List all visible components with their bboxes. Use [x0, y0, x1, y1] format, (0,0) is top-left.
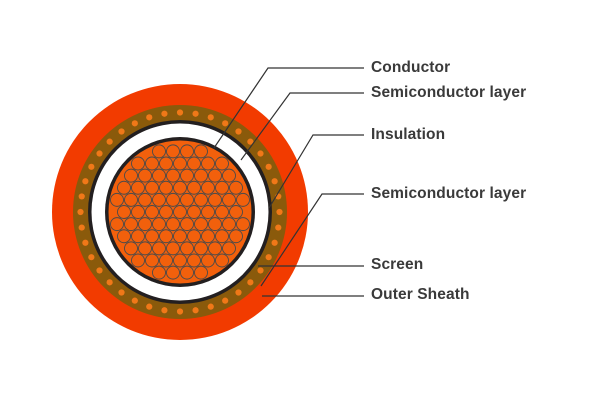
cable-cross-section-diagram: Conductor Semiconductor layer Insulation…: [0, 0, 610, 410]
screen-dot: [208, 304, 214, 310]
conductor-strand: [153, 242, 166, 255]
conductor-strand: [167, 218, 180, 231]
conductor-strand: [174, 254, 187, 267]
conductor-strand: [167, 193, 180, 206]
conductor-strand: [195, 218, 208, 231]
conductor-strand: [160, 230, 173, 243]
conductor-strand: [160, 157, 173, 170]
conductor-strand: [139, 242, 152, 255]
screen-dot: [146, 304, 152, 310]
conductor-strand: [188, 157, 201, 170]
conductor-strand: [181, 266, 194, 279]
conductor-strand: [146, 254, 159, 267]
label-insulation: Insulation: [371, 127, 445, 143]
conductor-strand: [188, 230, 201, 243]
conductor-strand: [230, 230, 243, 243]
conductor-strand: [132, 181, 145, 194]
conductor-strand: [237, 193, 250, 206]
screen-dot: [79, 193, 85, 199]
conductor-strand: [118, 181, 131, 194]
conductor-strand: [118, 206, 131, 219]
conductor-strand: [216, 157, 229, 170]
conductor-strand: [195, 242, 208, 255]
screen-dot: [192, 111, 198, 117]
conductor-strand: [202, 206, 215, 219]
screen-dot: [177, 109, 183, 115]
label-semiconductor-inner: Semiconductor layer: [371, 186, 526, 202]
conductor-strand: [118, 230, 131, 243]
conductor-strand: [195, 145, 208, 158]
screen-dot: [272, 178, 278, 184]
conductor-strand: [132, 254, 145, 267]
conductor-strand: [209, 193, 222, 206]
conductor-strand: [202, 157, 215, 170]
screen-dot: [118, 289, 124, 295]
conductor-strand: [160, 254, 173, 267]
screen-dot: [222, 120, 228, 126]
conductor-strand: [167, 266, 180, 279]
screen-dot: [257, 267, 263, 273]
conductor-strand: [230, 181, 243, 194]
conductor-strand: [237, 218, 250, 231]
conductor-strand: [153, 218, 166, 231]
label-outer-sheath: Outer Sheath: [371, 287, 470, 303]
conductor-strand: [132, 230, 145, 243]
conductor-strand: [202, 181, 215, 194]
conductor-strand: [125, 169, 138, 182]
screen-dot: [161, 307, 167, 313]
screen-dot: [235, 128, 241, 134]
screen-dot: [107, 139, 113, 145]
diagram-canvas: [0, 0, 610, 410]
conductor-strand: [132, 206, 145, 219]
conductor-strand: [174, 206, 187, 219]
conductor-strand: [195, 193, 208, 206]
conductor-strand: [188, 206, 201, 219]
screen-dot: [192, 307, 198, 313]
conductor-strand: [216, 254, 229, 267]
conductor-strand: [160, 206, 173, 219]
conductor-strand: [195, 169, 208, 182]
screen-dot: [82, 178, 88, 184]
conductor-strand: [181, 193, 194, 206]
conductor-strand: [202, 254, 215, 267]
conductor-strand: [223, 218, 236, 231]
label-conductor: Conductor: [371, 60, 450, 76]
screen-dot: [118, 128, 124, 134]
screen-dot: [208, 114, 214, 120]
conductor-strand: [125, 242, 138, 255]
conductor-strand: [146, 157, 159, 170]
conductor-strand: [181, 169, 194, 182]
screen-dot: [266, 164, 272, 170]
conductor-strand: [223, 169, 236, 182]
conductor-strand: [139, 169, 152, 182]
screen-dot: [79, 224, 85, 230]
screen-dot: [132, 120, 138, 126]
screen-dot: [77, 209, 83, 215]
conductor-strand: [153, 169, 166, 182]
screen-dot: [88, 254, 94, 260]
conductor-strand: [153, 266, 166, 279]
screen-dot: [88, 164, 94, 170]
conductor-strand: [230, 206, 243, 219]
conductor-strand: [195, 266, 208, 279]
conductor-strand: [174, 230, 187, 243]
label-screen: Screen: [371, 257, 423, 273]
conductor-strand: [139, 193, 152, 206]
screen-dot: [132, 298, 138, 304]
conductor-strand: [209, 169, 222, 182]
conductor-strand: [146, 230, 159, 243]
screen-dot: [275, 224, 281, 230]
screen-dot: [82, 240, 88, 246]
conductor-strand: [216, 181, 229, 194]
conductor-strand: [153, 145, 166, 158]
screen-dot: [235, 289, 241, 295]
conductor-strand: [167, 242, 180, 255]
conductor-strand: [188, 181, 201, 194]
conductor-strand: [153, 193, 166, 206]
screen-dot: [96, 267, 102, 273]
screen-dot: [272, 240, 278, 246]
conductor-strand: [216, 206, 229, 219]
conductor-strand: [181, 145, 194, 158]
screen-dot: [266, 254, 272, 260]
conductor-strand: [111, 218, 124, 231]
conductor-strand: [139, 218, 152, 231]
conductor-strand: [146, 206, 159, 219]
conductor-strand: [111, 193, 124, 206]
conductor-strand: [174, 157, 187, 170]
screen-dot: [247, 279, 253, 285]
conductor-strand: [223, 193, 236, 206]
conductor-strand: [167, 145, 180, 158]
conductor-strand: [188, 254, 201, 267]
conductor-strand: [160, 181, 173, 194]
label-semiconductor-outer: Semiconductor layer: [371, 85, 526, 101]
conductor-strand: [132, 157, 145, 170]
conductor-strand: [209, 218, 222, 231]
conductor-strand: [125, 193, 138, 206]
conductor-strand: [202, 230, 215, 243]
screen-dot: [177, 308, 183, 314]
conductor-strands-group: [111, 145, 250, 279]
conductor-strand: [146, 181, 159, 194]
conductor-strand: [181, 218, 194, 231]
screen-dot: [96, 150, 102, 156]
screen-dot: [222, 298, 228, 304]
conductor-strand: [181, 242, 194, 255]
conductor-strand: [174, 181, 187, 194]
conductor-strand: [167, 169, 180, 182]
screen-dot: [161, 111, 167, 117]
conductor-strand: [209, 242, 222, 255]
conductor-strand: [223, 242, 236, 255]
screen-dot: [257, 150, 263, 156]
screen-dot: [276, 209, 282, 215]
screen-dot: [146, 114, 152, 120]
screen-dot: [107, 279, 113, 285]
conductor-strand: [125, 218, 138, 231]
conductor-strand: [216, 230, 229, 243]
